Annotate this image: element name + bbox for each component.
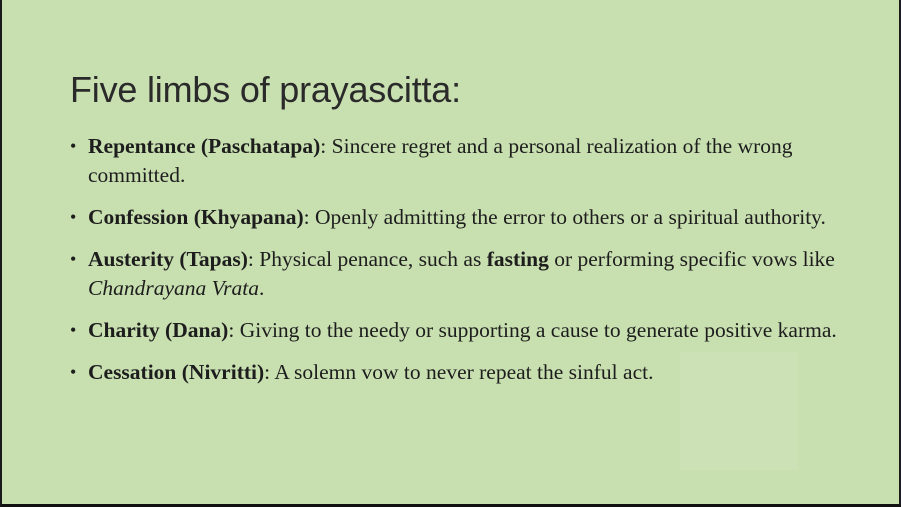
list-item-separator: : [228, 318, 239, 342]
list-item-emphasis-italic: Chandrayana Vrata [88, 276, 259, 300]
list-item-text: Physical penance, such as [259, 247, 486, 271]
list-item-text: A solemn vow to never repeat the sinful … [274, 360, 653, 384]
bullet-marker-icon: • [70, 316, 76, 345]
list-item-separator: : [320, 134, 331, 158]
bullet-marker-icon: • [70, 203, 76, 232]
list-item-text: Giving to the needy or supporting a caus… [240, 318, 837, 342]
bullet-marker-icon: • [70, 245, 76, 274]
list-item-text-continued: or performing specific vows like [549, 247, 835, 271]
list-item: •Charity (Dana): Giving to the needy or … [68, 316, 858, 345]
list-item: •Repentance (Paschatapa): Sincere regret… [68, 132, 858, 190]
bullet-list: •Repentance (Paschatapa): Sincere regret… [68, 132, 858, 387]
list-item-term: Repentance (Paschatapa) [88, 134, 320, 158]
list-item-term: Cessation (Nivritti) [88, 360, 264, 384]
list-item-term: Confession (Khyapana) [88, 205, 304, 229]
list-item-term: Charity (Dana) [88, 318, 228, 342]
list-item-separator: : [264, 360, 274, 384]
presentation-slide: Five limbs of prayascitta: •Repentance (… [0, 0, 901, 507]
list-item-emphasis-bold: fasting [487, 247, 549, 271]
list-item-text-end: . [259, 276, 264, 300]
list-item: •Austerity (Tapas): Physical penance, su… [68, 245, 858, 303]
list-item-text: Openly admitting the error to others or … [315, 205, 826, 229]
list-item: •Cessation (Nivritti): A solemn vow to n… [68, 358, 858, 387]
page-title: Five limbs of prayascitta: [70, 69, 461, 111]
list-item-term: Austerity (Tapas) [88, 247, 248, 271]
bullet-marker-icon: • [70, 358, 76, 387]
list-item-separator: : [248, 247, 259, 271]
list-item: •Confession (Khyapana): Openly admitting… [68, 203, 858, 232]
bullet-marker-icon: • [70, 132, 76, 161]
list-item-separator: : [304, 205, 315, 229]
